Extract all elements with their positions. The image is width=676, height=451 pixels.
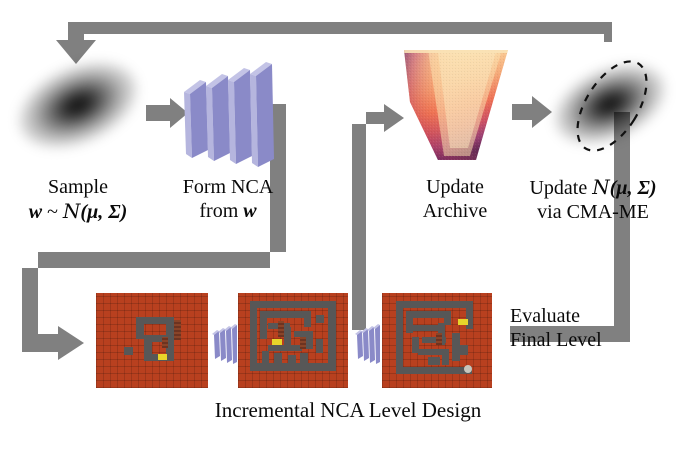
updated-distribution-graphic bbox=[548, 44, 676, 168]
label-sample-dist: N bbox=[63, 199, 81, 223]
nca-step-icon-2 bbox=[354, 322, 380, 364]
figure-caption: Incremental NCA Level Design bbox=[148, 398, 548, 423]
label-form-nca-line1: Form NCA bbox=[183, 176, 274, 198]
label-form-nca-pre: from bbox=[199, 200, 238, 222]
label-sample-w: w bbox=[29, 201, 42, 223]
label-sample: Sample w ~ N(μ, Σ) bbox=[8, 176, 148, 224]
edge-archive-to-distribution bbox=[512, 96, 552, 128]
level-2-cells bbox=[238, 293, 348, 388]
label-update-archive-line2: Archive bbox=[392, 200, 518, 224]
label-update-dist-pre: Update bbox=[529, 177, 587, 199]
level-2-door bbox=[278, 321, 284, 337]
nca-step-icon-2-svg bbox=[354, 322, 380, 364]
gaussian-ellipse-left bbox=[6, 46, 149, 164]
level-2-key bbox=[272, 339, 282, 345]
nca-slab-4 bbox=[250, 62, 274, 167]
level-3-key bbox=[458, 319, 468, 325]
label-form-nca: Form NCA from w bbox=[158, 176, 298, 223]
nca-network-graphic bbox=[182, 58, 274, 168]
sample-gaussian bbox=[10, 46, 146, 166]
label-update-dist-cal: N bbox=[592, 175, 610, 199]
label-form-nca-w: w bbox=[243, 200, 256, 222]
label-sample-line1: Sample bbox=[48, 176, 108, 198]
level-3-goal bbox=[464, 365, 472, 373]
label-sample-args: (μ, Σ) bbox=[80, 201, 127, 223]
level-1-door bbox=[174, 320, 181, 340]
label-evaluate-line1: Evaluate bbox=[510, 305, 580, 327]
level-step-2 bbox=[238, 293, 348, 388]
label-update-dist-args: (μ, Σ) bbox=[610, 177, 657, 199]
nca-step-icon-1-svg bbox=[211, 322, 237, 364]
level-3-cells bbox=[382, 293, 492, 388]
level-1-cells bbox=[96, 293, 208, 388]
nca-slab-1 bbox=[184, 80, 208, 158]
level-3-door bbox=[436, 333, 442, 345]
level-step-1 bbox=[96, 293, 208, 388]
label-update-archive-line1: Update bbox=[426, 176, 484, 198]
label-update-distribution: Update N(μ, Σ) via CMA-ME bbox=[510, 176, 676, 224]
level-2-door-2 bbox=[300, 337, 306, 349]
nca-step-icon-1 bbox=[211, 322, 237, 364]
level-1-door-2 bbox=[162, 337, 168, 348]
archive-heatmap-svg bbox=[398, 44, 514, 162]
figure-canvas: Sample w ~ N(μ, Σ) Form NCA from w Updat… bbox=[0, 0, 676, 451]
label-update-dist-line2: via CMA-ME bbox=[510, 201, 676, 225]
level-step-3 bbox=[382, 293, 492, 388]
level-1-key bbox=[158, 354, 167, 360]
label-update-archive: Update Archive bbox=[392, 176, 518, 223]
label-evaluate-line2: Final Level bbox=[510, 329, 632, 353]
nca-slab-3 bbox=[228, 68, 252, 164]
cma-dashed-ellipse bbox=[548, 44, 676, 168]
nca-slab-2 bbox=[206, 74, 230, 161]
label-sample-tilde: ~ bbox=[47, 201, 58, 223]
figure-caption-text: Incremental NCA Level Design bbox=[215, 398, 482, 422]
nca-slabs-svg bbox=[182, 58, 274, 168]
archive-heatmap bbox=[398, 44, 514, 162]
label-evaluate-final-level: Evaluate Final Level bbox=[510, 305, 632, 352]
